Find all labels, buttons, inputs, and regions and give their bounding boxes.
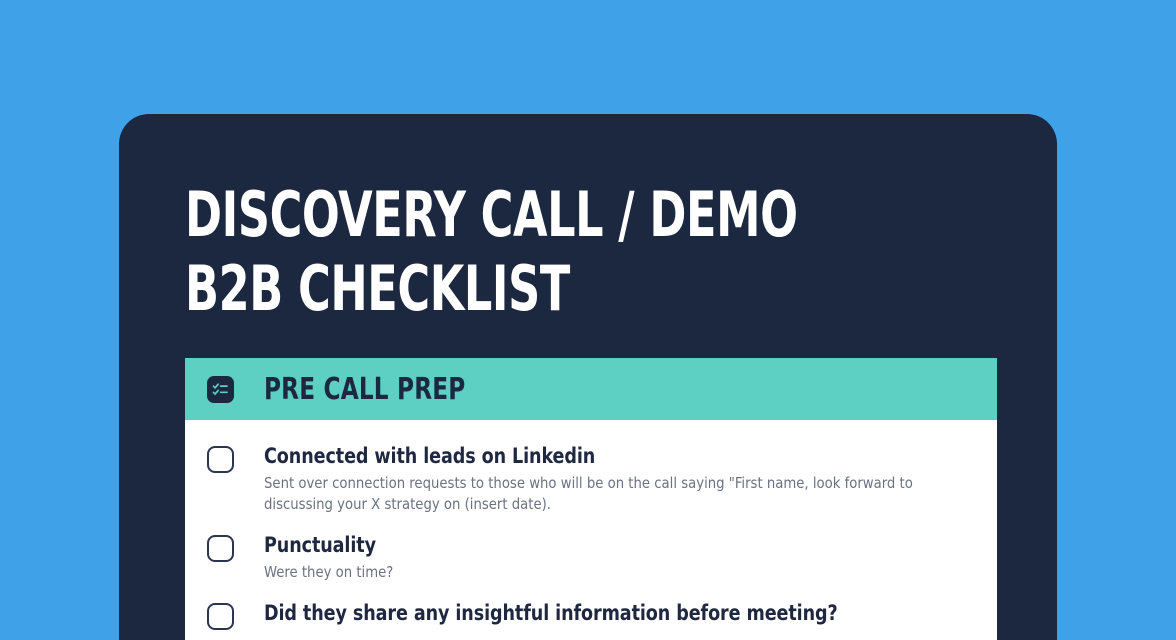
checklist-panel: Pre Call Prep Connected with leads on Li… <box>185 358 997 640</box>
list-item-title: Punctuality <box>264 531 922 560</box>
list-item[interactable]: Punctuality Were they on time? <box>207 525 971 593</box>
checklist-items: Connected with leads on Linkedin Sent ov… <box>185 420 997 640</box>
checkbox-icon[interactable] <box>207 535 234 562</box>
list-item-body: Connected with leads on Linkedin Sent ov… <box>264 442 971 515</box>
section-title: Pre Call Prep <box>264 372 465 407</box>
list-item-title: Connected with leads on Linkedin <box>264 442 922 471</box>
checkbox-icon[interactable] <box>207 603 234 630</box>
section-header-pre-call-prep: Pre Call Prep <box>185 358 997 420</box>
list-item-description: Sent over connection requests to those w… <box>264 473 936 515</box>
checkbox-icon[interactable] <box>207 446 234 473</box>
page-background: Discovery Call / Demo B2B Checklist Pre … <box>0 0 1176 640</box>
checklist-card: Discovery Call / Demo B2B Checklist Pre … <box>119 114 1057 640</box>
page-title: Discovery Call / Demo B2B Checklist <box>185 178 817 326</box>
checklist-icon <box>207 376 234 403</box>
list-item-body: Punctuality Were they on time? <box>264 531 971 583</box>
list-item-title: Did they share any insightful informatio… <box>264 599 922 628</box>
list-item[interactable]: Connected with leads on Linkedin Sent ov… <box>207 436 971 525</box>
list-item[interactable]: Did they share any insightful informatio… <box>207 593 971 640</box>
list-item-body: Did they share any insightful informatio… <box>264 599 971 628</box>
list-item-description: Were they on time? <box>264 562 936 583</box>
